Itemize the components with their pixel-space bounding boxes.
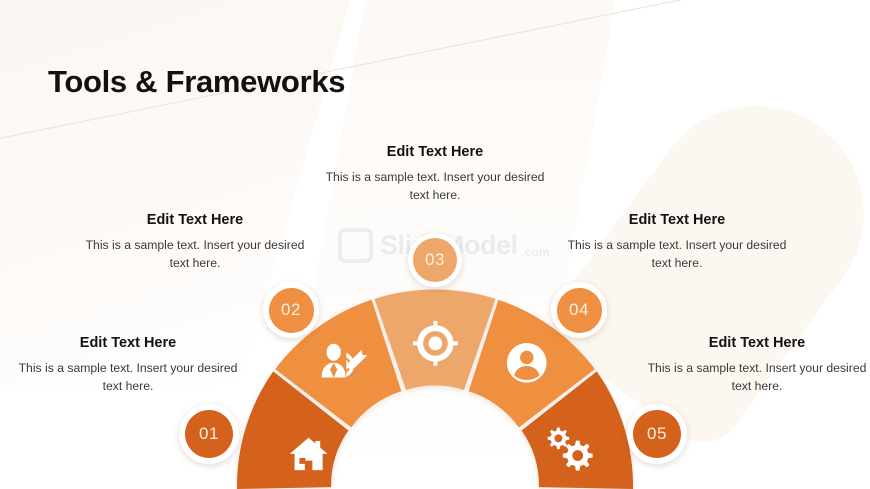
- text-block-2-body: This is a sample text. Insert your desir…: [80, 237, 310, 272]
- badge-05[interactable]: 05: [627, 404, 687, 464]
- text-block-4: Edit Text Here This is a sample text. In…: [562, 212, 792, 272]
- slide-canvas: SlideModel .com Tools & Frameworks Edit …: [0, 0, 870, 489]
- user-icon: [507, 343, 547, 383]
- text-block-5: Edit Text Here This is a sample text. In…: [642, 335, 870, 395]
- badge-01-label: 01: [185, 410, 233, 458]
- badge-04[interactable]: 04: [551, 282, 607, 338]
- text-block-1-heading: Edit Text Here: [13, 335, 243, 351]
- text-block-4-heading: Edit Text Here: [562, 212, 792, 228]
- badge-04-label: 04: [557, 288, 602, 333]
- text-block-3: Edit Text Here This is a sample text. In…: [320, 144, 550, 204]
- text-block-1-body: This is a sample text. Insert your desir…: [13, 360, 243, 395]
- badge-03[interactable]: 03: [408, 233, 462, 287]
- badge-02-label: 02: [269, 288, 314, 333]
- text-block-2-heading: Edit Text Here: [80, 212, 310, 228]
- text-block-5-heading: Edit Text Here: [642, 335, 870, 351]
- badge-01[interactable]: 01: [179, 404, 239, 464]
- text-block-3-body: This is a sample text. Insert your desir…: [320, 169, 550, 204]
- text-block-4-body: This is a sample text. Insert your desir…: [562, 237, 792, 272]
- watermark-tld: .com: [522, 245, 550, 259]
- page-title: Tools & Frameworks: [48, 64, 345, 100]
- badge-02[interactable]: 02: [263, 282, 319, 338]
- badge-05-label: 05: [633, 410, 681, 458]
- slidemodel-logo-icon: [338, 228, 373, 263]
- text-block-5-body: This is a sample text. Insert your desir…: [642, 360, 870, 395]
- text-block-2: Edit Text Here This is a sample text. In…: [80, 212, 310, 272]
- text-block-1: Edit Text Here This is a sample text. In…: [13, 335, 243, 395]
- badge-03-label: 03: [413, 238, 457, 282]
- text-block-3-heading: Edit Text Here: [320, 144, 550, 160]
